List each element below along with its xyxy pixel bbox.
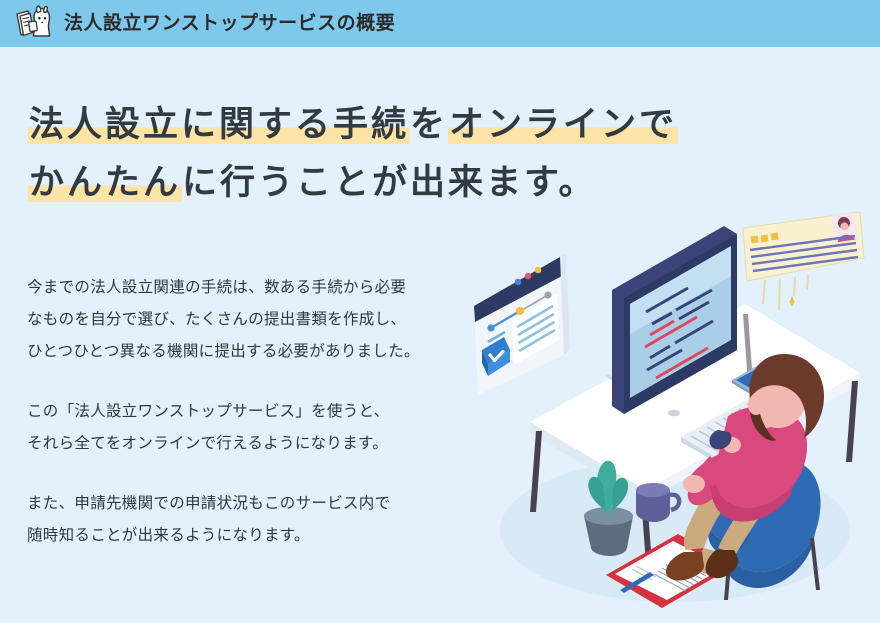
headline-segment-plain: を xyxy=(410,105,448,144)
paragraph-2: この「法人設立ワンストップサービス」を使うと、 それら全てをオンラインで行えるよ… xyxy=(27,396,487,460)
headline-segment-highlight: オンラインで xyxy=(448,105,678,144)
headline-line-1: 法人設立に関する手続をオンラインで xyxy=(28,96,708,154)
paragraph-line: 随時知ることが出来るようになります。 xyxy=(27,527,310,544)
paragraph-line: 今までの法人設立関連の手続は、数ある手続から必要 xyxy=(27,279,406,296)
paragraph-1: 今までの法人設立関連の手続は、数ある手続から必要 なものを自分で選び、たくさんの… xyxy=(27,272,487,368)
illustration-woman-at-desk xyxy=(460,200,880,615)
browser-window-card xyxy=(474,254,570,395)
paragraph-line: ひとつひとつ異なる機関に提出する必要がありました。 xyxy=(27,343,420,360)
headline-segment-plain: に行うことが出来ます。 xyxy=(182,163,597,202)
paragraph-line: この「法人設立ワンストップサービス」を使うと、 xyxy=(27,403,389,420)
page-root: 法人設立ワンストップサービスの概要 法人設立に関する手続をオンラインで かんたん… xyxy=(0,0,880,623)
rabbit-mascot-icon xyxy=(14,5,54,43)
header-title: 法人設立ワンストップサービスの概要 xyxy=(64,14,395,33)
illustration-svg xyxy=(460,200,880,615)
body-copy: 今までの法人設立関連の手続は、数ある手続から必要 なものを自分で選び、たくさんの… xyxy=(27,272,487,552)
headline-segment-highlight: かんたん xyxy=(28,163,182,202)
paragraph-3: また、申請先機関での申請状況もこのサービス内で 随時知ることが出来るようになりま… xyxy=(27,488,487,552)
paragraph-line: なものを自分で選び、たくさんの提出書類を作成し、 xyxy=(27,311,406,328)
headline-segment-highlight: 法人設立に関する手続 xyxy=(28,105,410,144)
headline: 法人設立に関する手続をオンラインで かんたんに行うことが出来ます。 xyxy=(28,96,708,212)
paragraph-line: また、申請先機関での申請状況もこのサービス内で xyxy=(27,495,390,512)
header-bar: 法人設立ワンストップサービスの概要 xyxy=(0,0,880,47)
id-card xyxy=(743,212,864,310)
paragraph-line: それら全てをオンラインで行えるようになります。 xyxy=(27,435,388,452)
